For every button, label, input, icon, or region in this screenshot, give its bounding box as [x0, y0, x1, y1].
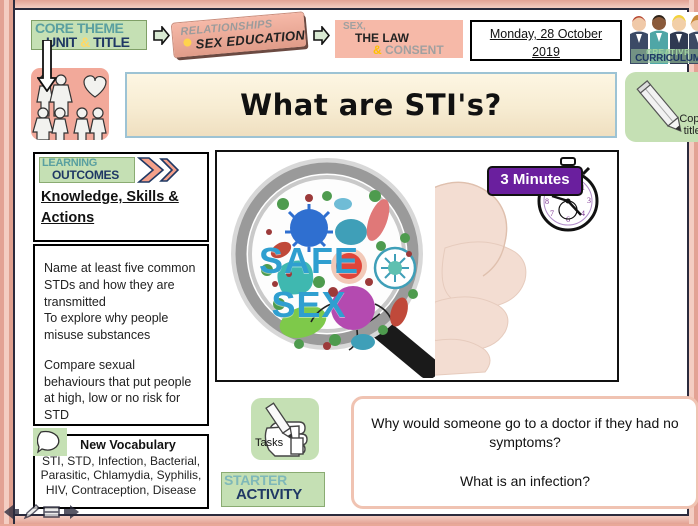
slide-frame-bottom [15, 516, 698, 524]
learning-outcomes-tag: LEARNING OUTCOMES [39, 157, 135, 183]
slide-frame-top [15, 0, 698, 8]
question-2: What is an infection? [460, 472, 590, 492]
tasks-label: Tasks [255, 437, 283, 449]
learning-outcomes-line2: OUTCOMES [40, 169, 134, 181]
slide-header: CORE THEME UNIT & TITLE RELATIONSHIPS SE… [15, 10, 687, 66]
copy-title-line1: Copy [679, 113, 698, 125]
copy-title-label: Copy title [679, 113, 698, 138]
tasks-button[interactable]: Tasks [251, 398, 319, 460]
svg-text:7: 7 [550, 209, 554, 218]
learning-outcomes-heading: Knowledge, Skills & Actions [41, 187, 202, 229]
lesson-date: Monday, 28 October 2019 [470, 20, 622, 61]
learning-outcome-item-1: Name at least five common STDs and how t… [44, 260, 199, 310]
slide-menu-button[interactable] [42, 503, 61, 521]
copy-title-button[interactable]: Copy title [625, 72, 698, 142]
learning-outcomes-header-box: LEARNING OUTCOMES Knowledge, Skills & Ac… [33, 152, 209, 242]
svg-text:8: 8 [545, 197, 549, 206]
safe-sex-line1: SAFE [229, 244, 389, 278]
unit-tag-relationships-sex-education[interactable]: RELATIONSHIPS SEX EDUCATION [172, 12, 306, 57]
safe-sex-overlay-text: SAFE SEX [229, 244, 389, 322]
question-1: Why would someone go to a doctor if they… [354, 414, 696, 453]
arrow-down-icon [37, 40, 57, 92]
logo-line2: CURRICULUM [631, 54, 698, 64]
arrow-right-icon-2 [313, 26, 330, 45]
learning-outcomes-list: Name at least five common STDs and how t… [33, 244, 209, 426]
timer-badge: 3 Minutes [487, 166, 583, 196]
date-line2: 2019 [532, 45, 560, 59]
starter-line2: ACTIVITY [222, 487, 324, 502]
page-title: What are STI's? [240, 88, 502, 122]
vocabulary-title: New Vocabulary [35, 438, 207, 452]
svg-text:3: 3 [587, 196, 591, 205]
media-panel: SAFE SEX 1213 467 811 [215, 150, 619, 382]
core-theme-line1: CORE THEME [32, 21, 146, 35]
creative-curriculum-logo: CREATIVE CURRICULUM [627, 12, 698, 64]
presentation-slide: CORE THEME UNIT & TITLE RELATIONSHIPS SE… [0, 0, 698, 524]
slide-content: CORE THEME UNIT & TITLE RELATIONSHIPS SE… [15, 8, 689, 516]
creative-curriculum-label: CREATIVE CURRICULUM [631, 49, 698, 63]
safe-sex-line2: SEX [229, 288, 389, 322]
topic-tag-line3: & CONSENT [373, 43, 444, 57]
learning-outcome-item-2: To explore why people misuse substances [44, 310, 199, 344]
vocabulary-words: STI, STD, Infection, Bacterial, Parasiti… [37, 454, 205, 497]
copy-title-line2: title [684, 125, 698, 137]
date-line1: Monday, 28 October [490, 27, 602, 41]
chevron-right-icon [137, 156, 181, 184]
next-slide-button[interactable] [62, 503, 81, 521]
previous-slide-button[interactable] [2, 503, 21, 521]
starter-line1: STARTER [222, 473, 324, 487]
discussion-question-panel: Why would someone go to a doctor if they… [351, 396, 698, 509]
starter-activity-button[interactable]: STARTER ACTIVITY [221, 472, 325, 507]
topic-tag-sex-law-consent[interactable]: SEX, THE LAW & CONSENT [335, 20, 463, 58]
svg-text:4: 4 [581, 209, 585, 218]
slideshow-toolbar[interactable] [2, 501, 80, 523]
unit-tag-dot-icon [183, 38, 192, 47]
pen-annotate-button[interactable] [22, 503, 41, 521]
arrow-right-icon-1 [153, 26, 170, 45]
new-vocabulary-box: New Vocabulary STI, STD, Infection, Bact… [33, 434, 209, 509]
learning-outcome-item-3: Compare sexual behaviours that put peopl… [44, 357, 199, 424]
timer-widget: 1213 467 811 3 Minutes [487, 156, 611, 232]
slide-title-banner: What are STI's? [125, 72, 617, 138]
